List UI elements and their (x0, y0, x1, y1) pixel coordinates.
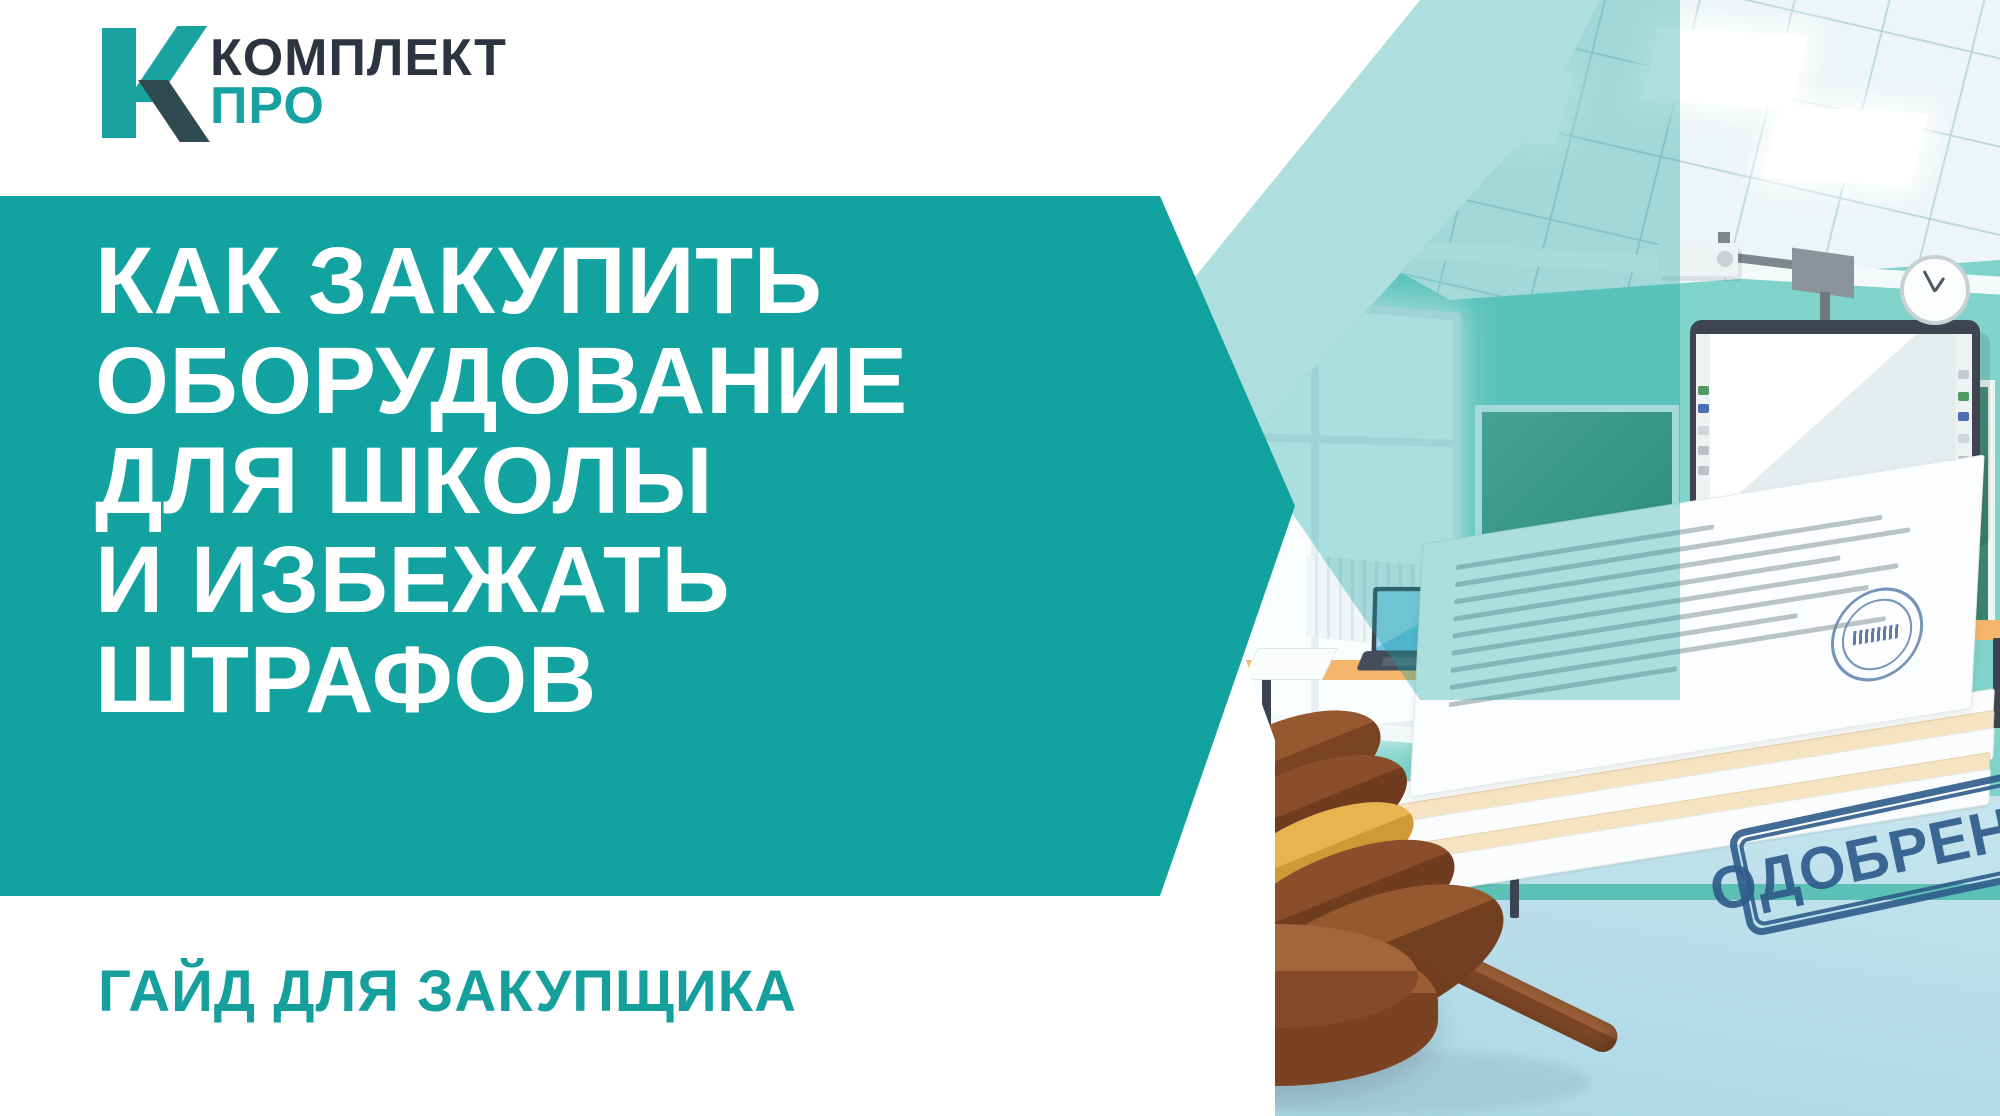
wall-clock-icon (1900, 255, 1970, 325)
folder-icon (1698, 386, 1709, 395)
headline-line: И ИЗБЕЖАТЬ (95, 531, 1105, 631)
clock-minute-hand (1923, 270, 1937, 292)
logo-k-stem (102, 28, 136, 138)
logo-name-secondary: ПРО (210, 83, 507, 131)
paper-sheet (1242, 648, 1338, 680)
pen-icon (1698, 446, 1709, 455)
gavel-base-top (1136, 924, 1418, 1028)
poster-canvas: ОДОБРЕНО КОМПЛЕКТ ПРО КАК ЗАКУПИТЬ ОБОРУ… (0, 0, 2000, 1116)
logo-name-primary: КОМПЛЕКТ (210, 35, 507, 83)
projector-mount-plate (1792, 248, 1854, 299)
headline-line: ОБОРУДОВАНИЕ (95, 332, 1105, 432)
desk-leg (1262, 678, 1271, 788)
ceiling-light-panel-icon (1762, 106, 1928, 186)
headline-line: ДЛЯ ШКОЛЫ (95, 432, 1105, 532)
shape-icon (1958, 434, 1969, 443)
ceiling-light-panel-icon (1422, 66, 1573, 143)
logo-wordmark: КОМПЛЕКТ ПРО (210, 35, 507, 131)
marker-icon (1698, 466, 1709, 475)
headline-line: КАК ЗАКУПИТЬ (95, 232, 1105, 332)
projector-icon (1658, 243, 1738, 276)
logo-k-mark-icon (92, 28, 188, 138)
subtitle: ГАЙД ДЛЯ ЗАКУПЩИКА (98, 958, 797, 1025)
ceiling-light-panel-icon (1642, 28, 1808, 108)
logo-k-lower-leg (138, 80, 210, 142)
shape-icon (1698, 426, 1709, 435)
whiteboard-tool-tray-left (1696, 334, 1710, 517)
headline-line: ШТРАФОВ (95, 631, 1105, 731)
brand-logo[interactable]: КОМПЛЕКТ ПРО (92, 28, 507, 138)
square-icon (1698, 404, 1709, 413)
settings-icon (1958, 370, 1969, 379)
square-icon (1958, 412, 1969, 421)
headline-block: КАК ЗАКУПИТЬ ОБОРУДОВАНИЕ ДЛЯ ШКОЛЫ И ИЗ… (95, 232, 1105, 731)
folder-icon (1958, 392, 1969, 401)
